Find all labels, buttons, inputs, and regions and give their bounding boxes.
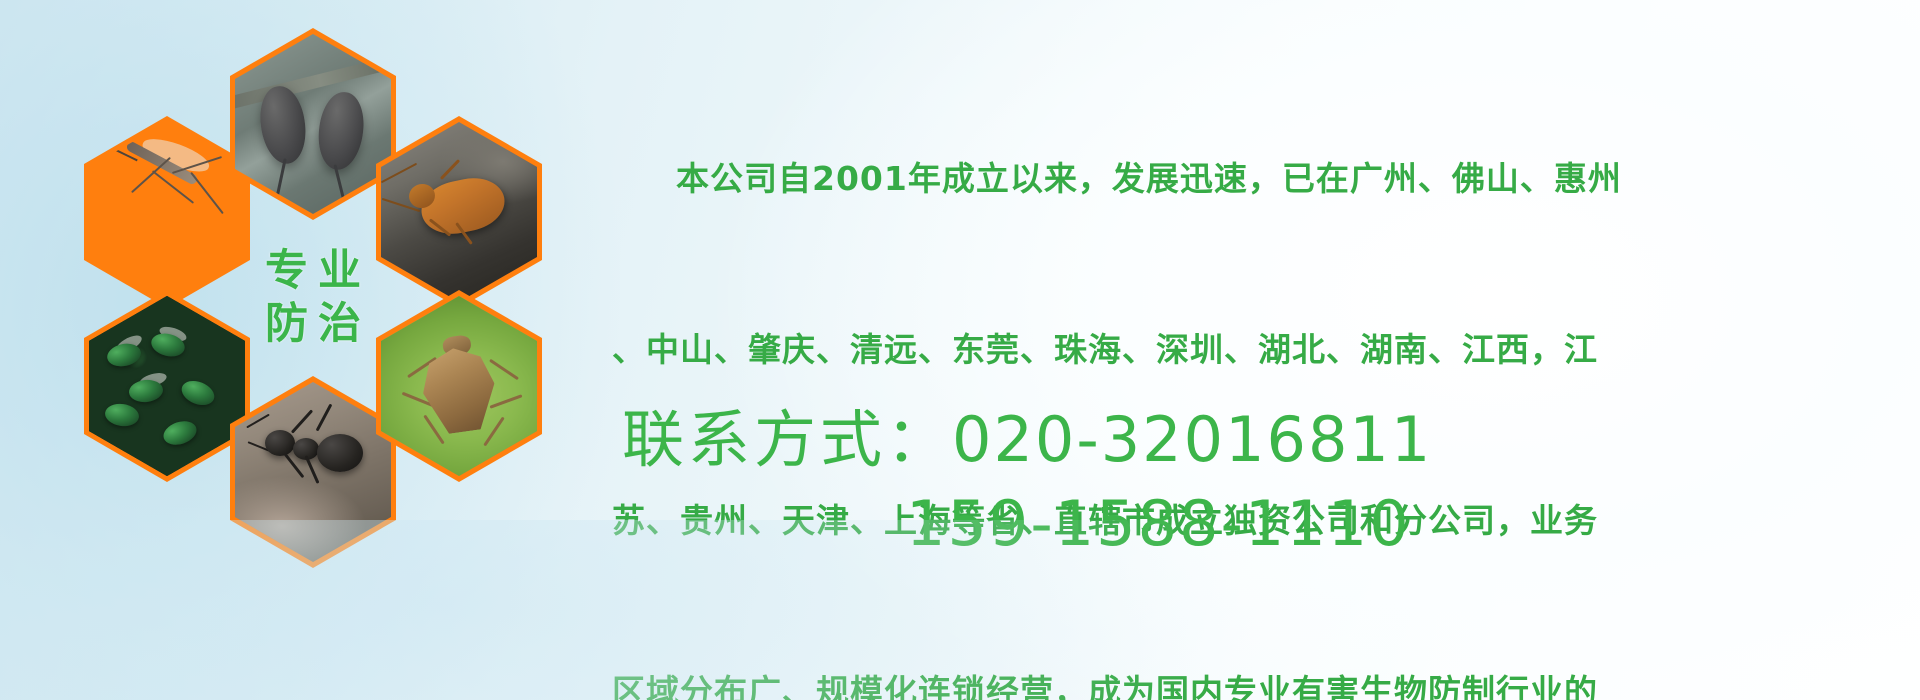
hex-photo-mosquito[interactable]	[84, 116, 250, 308]
bug-leg	[483, 417, 504, 447]
fly-body	[160, 417, 199, 448]
hex-photo-rats-frame	[235, 34, 391, 214]
contact-block: 联系方式：020-32016811 159-1588-1110	[622, 398, 1912, 566]
hex-photo-ant[interactable]	[230, 376, 396, 568]
cockroach-image	[381, 122, 537, 302]
rat-body	[256, 83, 310, 166]
contact-secondary-line: 159-1588-1110	[622, 482, 1912, 566]
hex-photo-rats[interactable]	[230, 28, 396, 220]
hex-photo-flies-frame	[89, 296, 245, 476]
rat-body	[314, 90, 367, 173]
ant-antenna	[246, 414, 270, 429]
intro-line: 本公司自2001年成立以来，发展迅速，已在广州、佛山、惠州	[612, 150, 1912, 207]
ant-leg	[291, 409, 313, 433]
stink-bug-image	[381, 296, 537, 476]
phone-primary[interactable]: 020-32016811	[952, 403, 1432, 476]
rat-trap-stick	[235, 51, 391, 110]
cockroach-antenna	[381, 163, 417, 184]
rat-tail	[333, 164, 347, 209]
rats-image	[235, 34, 391, 214]
banner-content: 本公司自2001年成立以来，发展迅速，已在广州、佛山、惠州 、中山、肇庆、清远、…	[612, 0, 1920, 700]
ant-image	[235, 382, 391, 562]
mosquito-image	[89, 122, 245, 302]
brand-tagline-label: 专业 防治	[230, 202, 396, 394]
rat-tail	[274, 158, 286, 204]
hex-photo-flies[interactable]	[84, 290, 250, 482]
bug-leg	[490, 394, 523, 408]
intro-line: 区域分布广、规模化连锁经营，成为国内专业有害生物防制行业的	[612, 663, 1912, 700]
hex-photo-stink-bug[interactable]	[376, 290, 542, 482]
contact-primary-line: 联系方式：020-32016811	[622, 398, 1912, 482]
ant-abdomen	[317, 434, 363, 472]
hex-photo-cockroach-frame	[381, 122, 537, 302]
hex-photo-cockroach[interactable]	[376, 116, 542, 308]
fly-body	[104, 402, 141, 429]
phone-secondary[interactable]: 159-1588-1110	[906, 487, 1411, 560]
hex-photo-stink-bug-frame	[381, 296, 537, 476]
contact-label: 联系方式：	[622, 403, 952, 476]
honeycomb-photo-cluster: 专业 防治	[84, 8, 604, 568]
mosquito-leg	[190, 172, 224, 214]
intro-line: 、中山、肇庆、清远、东莞、珠海、深圳、湖北、湖南、江西，江	[612, 321, 1912, 378]
fly-body	[128, 378, 164, 403]
fly-body	[178, 376, 218, 409]
tagline-line-1: 专业	[255, 250, 371, 293]
ant-head	[265, 430, 295, 456]
hex-photo-mosquito-frame	[89, 122, 245, 302]
bug-leg	[489, 359, 519, 380]
hex-brand-tagline: 专业 防治	[230, 202, 396, 394]
cockroach-leg	[440, 159, 460, 180]
ant-leg	[305, 455, 320, 484]
banner-stage: 专业 防治 本公司自2001年成立以来，发展迅速，已在广州、佛山、惠州 、中山、…	[0, 0, 1920, 700]
ant-leg	[316, 404, 333, 432]
tagline-line-2: 防治	[255, 303, 371, 346]
company-intro-paragraph: 本公司自2001年成立以来，发展迅速，已在广州、佛山、惠州 、中山、肇庆、清远、…	[612, 36, 1912, 700]
flies-image	[89, 296, 245, 476]
hex-photo-ant-frame	[235, 382, 391, 562]
